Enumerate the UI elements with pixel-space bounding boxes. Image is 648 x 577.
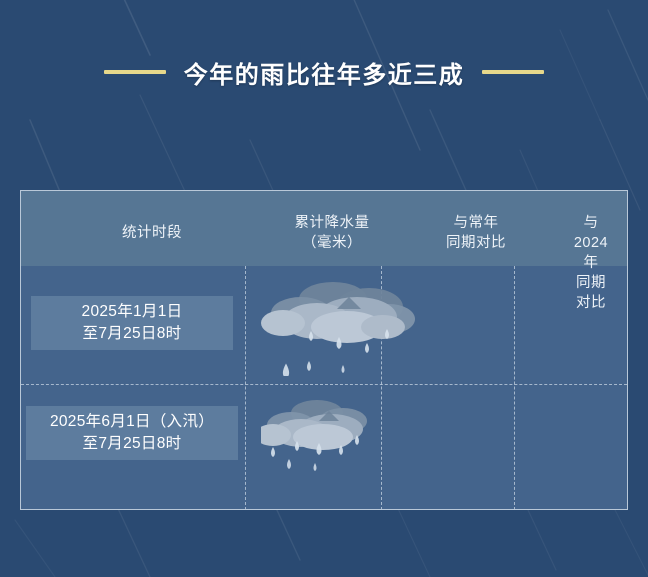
column-header-line: 同期对比 — [573, 273, 609, 313]
row-divider — [21, 384, 627, 385]
column-header-vs-normal: 与常年 同期对比 — [446, 213, 506, 253]
column-header-vs-2024: 与 2024年 同期对比 — [573, 213, 609, 313]
column-header-line: 与常年 — [446, 213, 506, 233]
row-label-line: 至7月25日8时 — [83, 323, 182, 345]
column-divider — [245, 266, 246, 510]
title-block: 今年的雨比往年多近三成 — [0, 50, 648, 94]
column-header-line: 累计降水量 — [295, 213, 370, 233]
table-row: 2025年1月1日 至7月25日8时 — [31, 296, 233, 350]
title-rule-right-icon — [482, 70, 544, 74]
row-label-line: 至7月25日8时 — [83, 433, 182, 455]
column-header-line: 与 2024年 — [573, 213, 609, 273]
data-table-panel: 统计时段 累计降水量 （毫米） 与常年 同期对比 与 2024年 同期对比 20… — [20, 190, 628, 510]
rain-cloud-icon — [261, 391, 391, 481]
column-header-line: 统计时段 — [122, 223, 182, 243]
column-header-line: 同期对比 — [446, 233, 506, 253]
page-title: 今年的雨比往年多近三成 — [184, 55, 465, 90]
table-row: 2025年6月1日（入汛） 至7月25日8时 — [26, 406, 238, 460]
row-label-line: 2025年1月1日 — [82, 301, 183, 323]
column-header-line: （毫米） — [295, 233, 370, 253]
row-label-line: 2025年6月1日（入汛） — [50, 411, 214, 433]
column-header-period: 统计时段 — [122, 223, 182, 243]
title-rule-left-icon — [104, 70, 166, 74]
rain-cloud-icon — [261, 271, 421, 376]
column-header-cumulative-precip: 累计降水量 （毫米） — [295, 213, 370, 253]
column-divider — [514, 266, 515, 510]
